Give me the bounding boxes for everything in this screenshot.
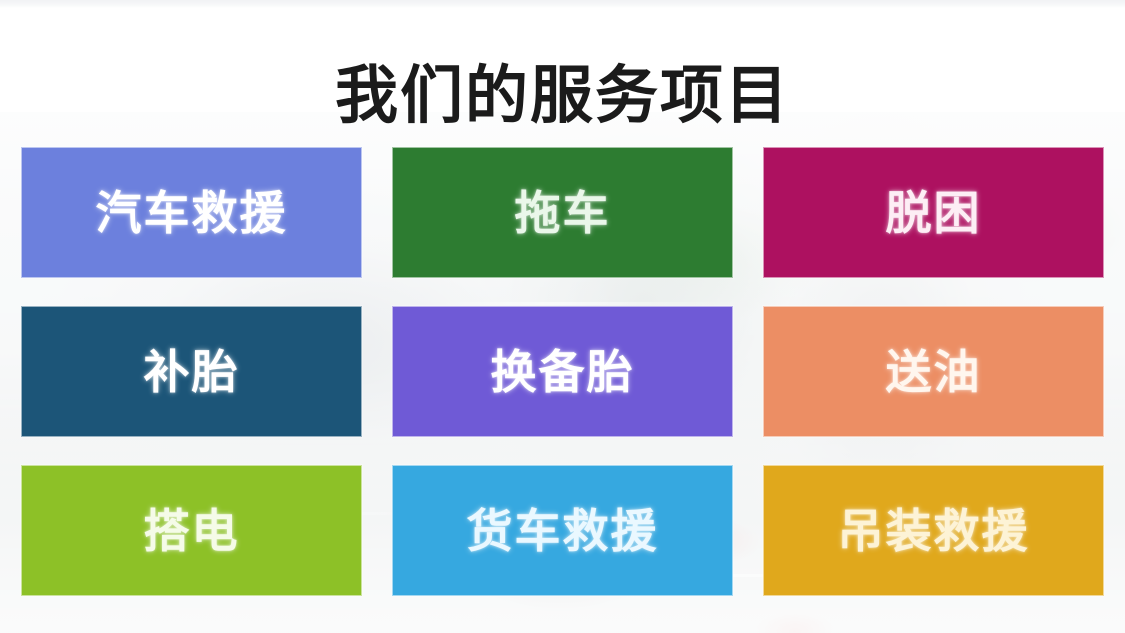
service-tile-tire-repair[interactable]: 补胎 bbox=[21, 306, 362, 437]
page-title: 我们的服务项目 bbox=[335, 60, 790, 132]
service-tile-label: 货车救援 bbox=[467, 506, 659, 556]
service-tile-jump-start[interactable]: 搭电 bbox=[21, 465, 362, 596]
service-tile-label: 搭电 bbox=[144, 506, 240, 556]
page-title-container: 我们的服务项目 bbox=[0, 18, 1125, 174]
top-edge-strip bbox=[0, 0, 1125, 8]
service-tile-fuel-delivery[interactable]: 送油 bbox=[763, 306, 1104, 437]
service-tile-label: 吊装救援 bbox=[838, 506, 1030, 556]
service-tile-label: 汽车救援 bbox=[96, 188, 288, 238]
service-tile-label: 拖车 bbox=[515, 188, 611, 238]
service-tile-label: 补胎 bbox=[144, 347, 240, 397]
service-tile-spare-tire-change[interactable]: 换备胎 bbox=[392, 306, 733, 437]
service-tile-label: 脱困 bbox=[886, 188, 982, 238]
service-tile-label: 送油 bbox=[886, 347, 982, 397]
service-items-slide: 我们的服务项目 汽车救援 拖车 脱困 补胎 换备胎 送油 搭电 货车救援 吊装救… bbox=[0, 0, 1125, 633]
service-tile-truck-rescue[interactable]: 货车救援 bbox=[392, 465, 733, 596]
service-tile-hoisting-rescue[interactable]: 吊装救援 bbox=[763, 465, 1104, 596]
service-tile-label: 换备胎 bbox=[491, 347, 635, 397]
service-tile-grid: 汽车救援 拖车 脱困 补胎 换备胎 送油 搭电 货车救援 吊装救援 bbox=[21, 147, 1104, 596]
